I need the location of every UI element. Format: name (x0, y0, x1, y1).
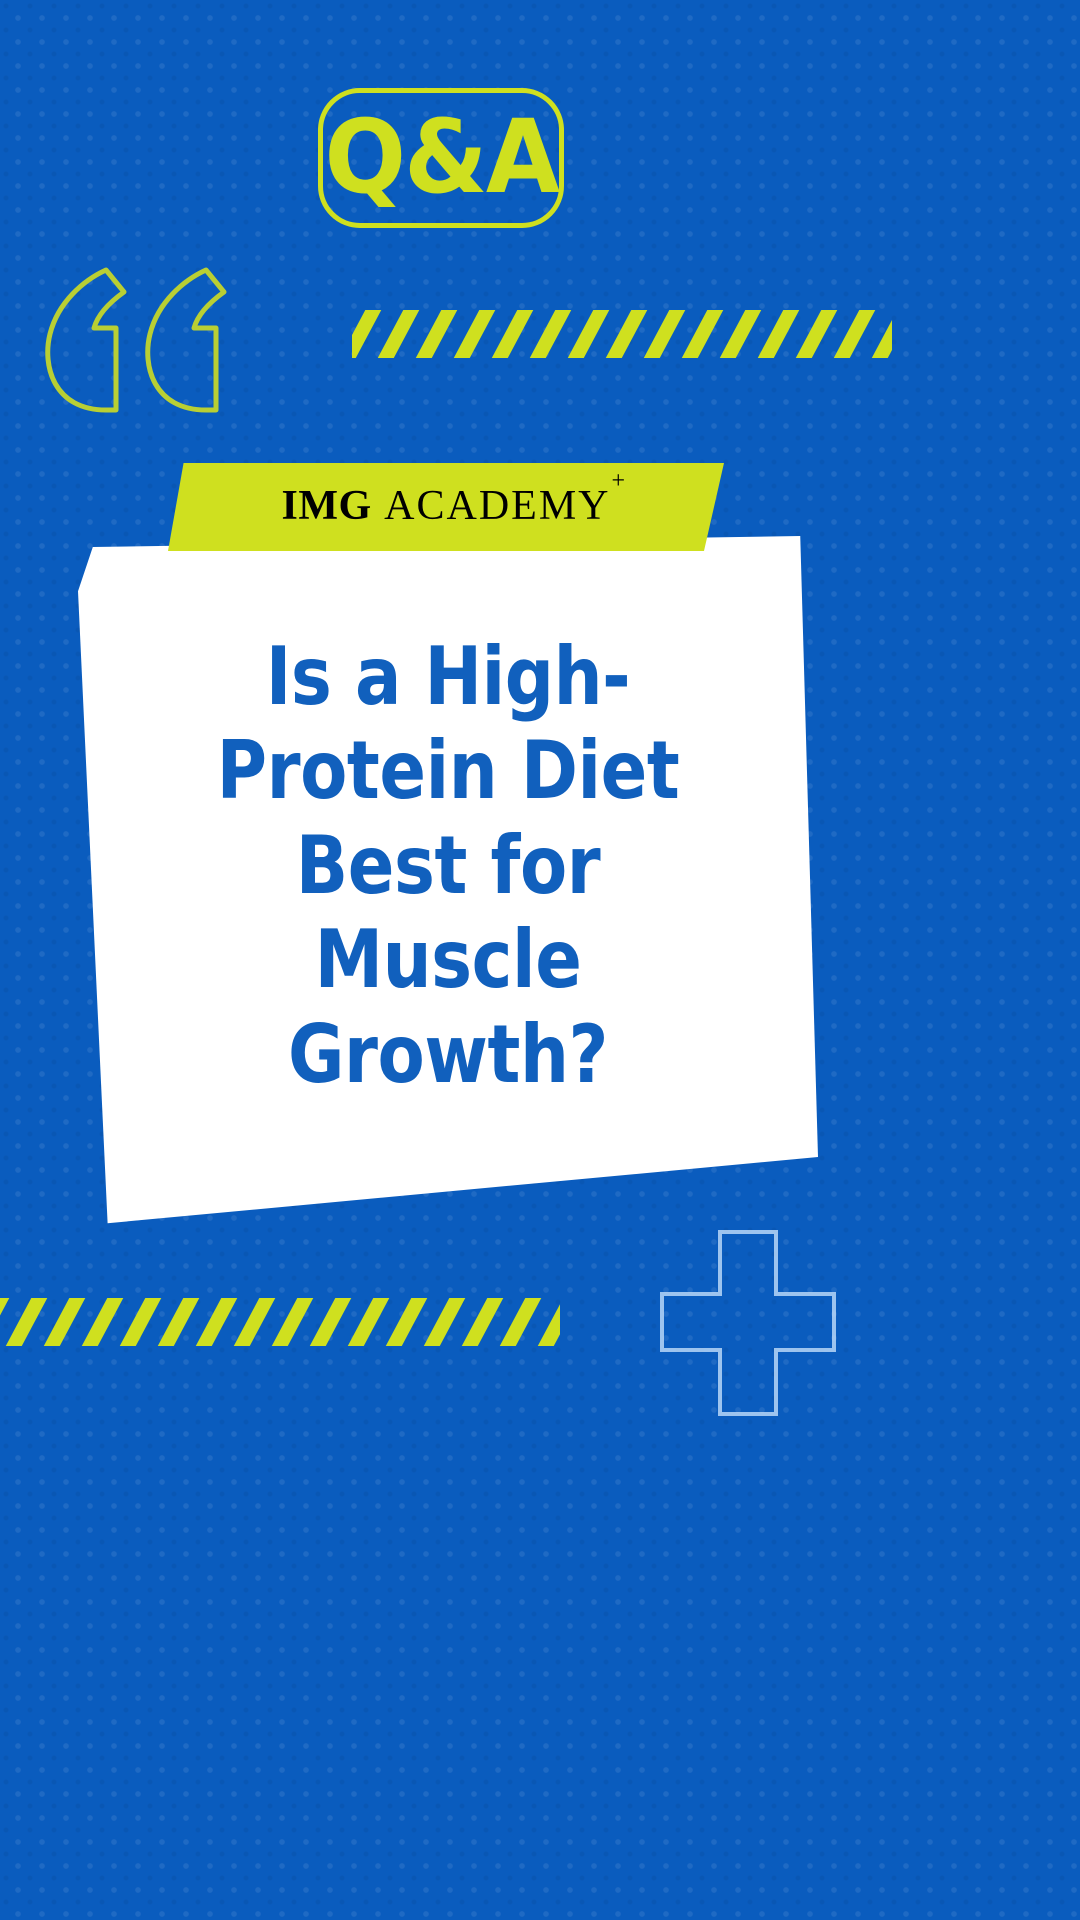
brand-logo-plus: + (612, 468, 627, 495)
brand-logo: IMG ACADEMY+ (282, 482, 611, 530)
content-card-inner: Is a High- Protein Diet Best for Muscle … (78, 536, 818, 1226)
brand-logo-academy (372, 483, 385, 529)
diagonal-stripes-bottom (0, 1298, 560, 1346)
brand-logo-academy-text: ACADEMY (384, 483, 610, 529)
diagonal-stripes-top (352, 310, 892, 358)
brand-banner: IMG ACADEMY+ (168, 463, 724, 551)
qa-badge-label: Q&A (324, 107, 558, 209)
quote-open-icon (28, 258, 228, 418)
brand-logo-img: IMG (282, 483, 372, 529)
qa-badge: Q&A (318, 88, 564, 228)
poster-canvas: Q&A Is a High- Protein Diet Best for Mus… (0, 0, 1080, 1920)
content-card: Is a High- Protein Diet Best for Muscle … (78, 536, 818, 1226)
page-title: Is a High- Protein Diet Best for Muscle … (169, 630, 726, 1102)
plus-outline-icon (658, 1228, 838, 1418)
